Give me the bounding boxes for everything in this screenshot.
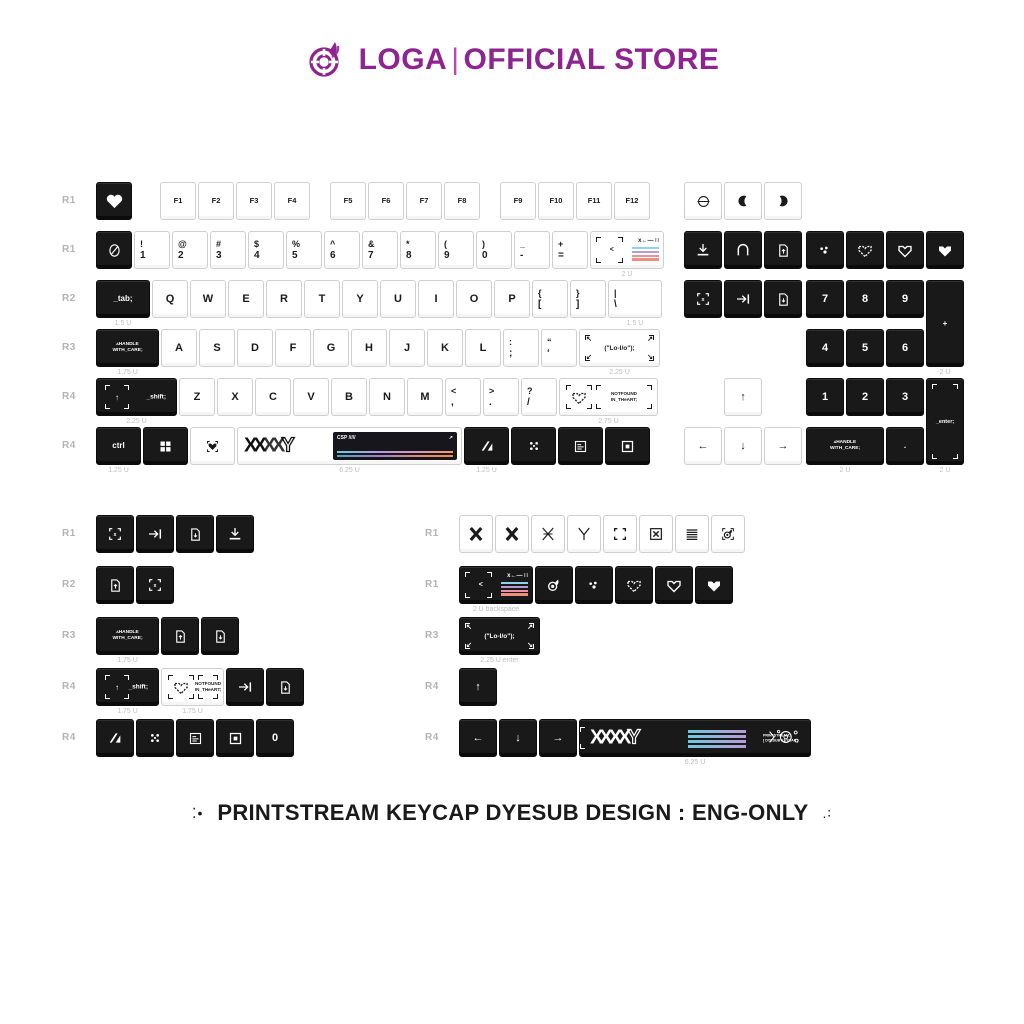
key-heart-outline-glyph[interactable] bbox=[655, 566, 693, 604]
key-legend: F4 bbox=[288, 197, 297, 205]
key-legend: 7 bbox=[822, 294, 828, 305]
key-f3[interactable]: F3 bbox=[236, 182, 272, 220]
key-spacebar-black[interactable]: XXXXYPRINTSTREAM;[ DYESUB KEYCAP ] bbox=[579, 719, 811, 757]
key-t[interactable]: T bbox=[304, 280, 340, 318]
key-[interactable]: ?/ bbox=[521, 378, 557, 416]
key-tab-arrow-glyph[interactable] bbox=[724, 280, 762, 318]
key-left-shift[interactable]: ↑_shift; bbox=[96, 378, 177, 416]
key-slash-glyph[interactable] bbox=[464, 427, 509, 465]
key-arrow-left[interactable]: ← bbox=[684, 427, 722, 465]
key-legend: 2 bbox=[862, 392, 868, 403]
key-legend: F8 bbox=[458, 197, 467, 205]
key-8[interactable]: *8 bbox=[400, 231, 436, 269]
key-size-label: 1.75 U bbox=[96, 708, 159, 715]
svg-text:x: x bbox=[702, 297, 705, 303]
key-numpad-zero[interactable]: ▵HANDLEWITH_CARE; bbox=[806, 427, 884, 465]
key-file-up-glyph[interactable] bbox=[161, 617, 199, 655]
key-size-label: 1.75 U bbox=[96, 657, 159, 664]
key-legend: + bbox=[943, 320, 948, 328]
key-crop-x-glyph[interactable]: x bbox=[684, 280, 722, 318]
key-legend: F9 bbox=[514, 197, 523, 205]
key-crop-x-glyph[interactable]: x bbox=[136, 566, 174, 604]
key-1[interactable]: !1 bbox=[134, 231, 170, 269]
key-p[interactable]: P bbox=[494, 280, 530, 318]
key-[interactable]: <, bbox=[445, 378, 481, 416]
key-x-bold-glyph[interactable] bbox=[459, 515, 493, 553]
key-heart-dashed-glyph[interactable] bbox=[846, 231, 884, 269]
key-legend: S bbox=[213, 343, 220, 354]
key-legend: E bbox=[242, 294, 249, 305]
key-slash-glyph[interactable] bbox=[96, 719, 134, 757]
key-s[interactable]: S bbox=[199, 329, 235, 367]
key-legend: 0 bbox=[272, 733, 278, 744]
svg-text:x: x bbox=[114, 532, 117, 538]
key-[interactable]: {[ bbox=[532, 280, 568, 318]
extra-keys-right-group: R1R1<x←— ∷2 U backspaceR3↖↗↙↘("Lo-I/o");… bbox=[425, 515, 985, 770]
key-file-down-glyph[interactable] bbox=[266, 668, 304, 706]
key-legend: _tab; bbox=[113, 295, 132, 303]
key-legend: 6 bbox=[902, 343, 908, 354]
key-[interactable]: “‘ bbox=[541, 329, 577, 367]
key-legend: L bbox=[480, 343, 487, 354]
footer-caption: ⁚• PRINTSTREAM KEYCAP DYESUB DESIGN : EN… bbox=[0, 800, 1024, 826]
extra-keys-left-group: R1xR2xR3▵HANDLEWITH_CARE;1.75 UR4↑_shift… bbox=[62, 515, 392, 770]
key-arrow-left[interactable]: ← bbox=[459, 719, 497, 757]
key-2[interactable]: @2 bbox=[172, 231, 208, 269]
key-size-label: 2 U bbox=[806, 467, 884, 474]
brand-name: LOGA bbox=[359, 43, 448, 76]
key-f6[interactable]: F6 bbox=[368, 182, 404, 220]
key-4[interactable]: 4 bbox=[806, 329, 844, 367]
key-f5[interactable]: F5 bbox=[330, 182, 366, 220]
key-w[interactable]: W bbox=[190, 280, 226, 318]
key-k[interactable]: K bbox=[427, 329, 463, 367]
key-legend: J bbox=[404, 343, 410, 354]
key-q[interactable]: Q bbox=[152, 280, 188, 318]
row-label-r1-1: R1 bbox=[62, 244, 76, 255]
key-legend: F12 bbox=[626, 197, 639, 205]
key-4[interactable]: $4 bbox=[248, 231, 284, 269]
key-7[interactable]: &7 bbox=[362, 231, 398, 269]
row-label-r1-1: R1 bbox=[425, 579, 439, 590]
svg-text:x: x bbox=[154, 583, 157, 589]
key-m[interactable]: M bbox=[407, 378, 443, 416]
key-5[interactable]: 5 bbox=[846, 329, 884, 367]
key-dots4-glyph[interactable] bbox=[511, 427, 556, 465]
key-3[interactable]: #3 bbox=[210, 231, 246, 269]
key-legend: B bbox=[345, 392, 353, 403]
key-f1[interactable]: F1 bbox=[160, 182, 196, 220]
key-e[interactable]: E bbox=[228, 280, 264, 318]
key-caps-lock[interactable]: ▵HANDLEWITH_CARE; bbox=[96, 617, 159, 655]
key-size-label: 2.25 U enter bbox=[459, 657, 540, 664]
key-ctrl[interactable]: ctrl bbox=[96, 427, 141, 465]
key-size-label: 1.5 U bbox=[608, 320, 662, 327]
key-spacebar[interactable]: XXXXYCSP /////↗ bbox=[237, 427, 462, 465]
key-legend: F11 bbox=[588, 197, 601, 205]
key-l[interactable]: L bbox=[465, 329, 501, 367]
key-arrow-right[interactable]: → bbox=[539, 719, 577, 757]
key-c[interactable]: C bbox=[255, 378, 291, 416]
key-crop-glyph[interactable] bbox=[603, 515, 637, 553]
key-f2[interactable]: F2 bbox=[198, 182, 234, 220]
key-arch-glyph[interactable] bbox=[724, 231, 762, 269]
key-right-shift[interactable]: NOTFOUNDIN_THeART; bbox=[559, 378, 658, 416]
key-heart-glyph[interactable] bbox=[96, 182, 132, 220]
key-file-down-glyph[interactable] bbox=[764, 280, 802, 318]
key-j[interactable]: J bbox=[389, 329, 425, 367]
key-r[interactable]: R bbox=[266, 280, 302, 318]
key-f9[interactable]: F9 bbox=[500, 182, 536, 220]
key-moon-glyph[interactable] bbox=[724, 182, 762, 220]
key-legend: 8 bbox=[862, 294, 868, 305]
key-legend: F6 bbox=[382, 197, 391, 205]
key-legend: D bbox=[251, 343, 259, 354]
brand-separator: | bbox=[447, 43, 463, 76]
key-[interactable]: }] bbox=[570, 280, 606, 318]
row-label-r1-0: R1 bbox=[62, 528, 76, 539]
key-n[interactable]: N bbox=[369, 378, 405, 416]
key-legend: W bbox=[203, 294, 213, 305]
key-boxed-x-glyph[interactable] bbox=[639, 515, 673, 553]
key-g[interactable]: G bbox=[313, 329, 349, 367]
key-6[interactable]: ^6 bbox=[324, 231, 360, 269]
key-legend: 5 bbox=[862, 343, 868, 354]
row-label-r1-0: R1 bbox=[62, 195, 76, 206]
key-[interactable]: _- bbox=[514, 231, 550, 269]
key-size-label: 1.5 U bbox=[96, 320, 150, 327]
key-f11[interactable]: F11 bbox=[576, 182, 612, 220]
key-numpad-enter[interactable]: _enter; bbox=[926, 378, 964, 465]
key-legend: F3 bbox=[250, 197, 259, 205]
key-legend: R bbox=[280, 294, 288, 305]
key-legend: Q bbox=[166, 294, 175, 305]
key-legend: A bbox=[175, 343, 183, 354]
key-download-glyph[interactable] bbox=[684, 231, 722, 269]
key-legend: M bbox=[420, 392, 429, 403]
key-legend: U bbox=[394, 294, 402, 305]
key-tab[interactable]: _tab; bbox=[96, 280, 150, 318]
key-[interactable]: :; bbox=[503, 329, 539, 367]
key-heart-outline-glyph[interactable] bbox=[886, 231, 924, 269]
key-f10[interactable]: F10 bbox=[538, 182, 574, 220]
row-label-r4-4: R4 bbox=[62, 391, 76, 402]
key-y[interactable]: Y bbox=[342, 280, 378, 318]
key-divided-circle-glyph[interactable] bbox=[684, 182, 722, 220]
key-a[interactable]: A bbox=[161, 329, 197, 367]
key-crop-x-glyph[interactable]: x bbox=[96, 515, 134, 553]
key-size-label: 2 U bbox=[926, 369, 964, 376]
store-header: LOGA|OFFICIAL STORE bbox=[0, 38, 1024, 82]
row-label-r4-4: R4 bbox=[62, 732, 76, 743]
key-6[interactable]: 6 bbox=[886, 329, 924, 367]
key-5[interactable]: %5 bbox=[286, 231, 322, 269]
row-label-r3-2: R3 bbox=[62, 630, 76, 641]
key-size-label: 6.25 U bbox=[237, 467, 462, 474]
key-[interactable]: >. bbox=[483, 378, 519, 416]
key-f7[interactable]: F7 bbox=[406, 182, 442, 220]
key-f4[interactable]: F4 bbox=[274, 182, 310, 220]
key-0[interactable]: 0 bbox=[256, 719, 294, 757]
key-backspace[interactable]: <x←— ∷ bbox=[590, 231, 664, 269]
key-heart-solid-glyph[interactable] bbox=[695, 566, 733, 604]
key-legend: C bbox=[269, 392, 277, 403]
key-o[interactable]: O bbox=[456, 280, 492, 318]
key-x-outline-glyph[interactable] bbox=[531, 515, 565, 553]
key-legend: P bbox=[508, 294, 515, 305]
key-legend: O bbox=[470, 294, 479, 305]
key-download-glyph[interactable] bbox=[216, 515, 254, 553]
key-z[interactable]: Z bbox=[179, 378, 215, 416]
key-x[interactable]: X bbox=[217, 378, 253, 416]
key-numpad-plus[interactable]: + bbox=[926, 280, 964, 367]
key-y-outline-glyph[interactable] bbox=[567, 515, 601, 553]
row-label-r4-3: R4 bbox=[425, 681, 439, 692]
key-d[interactable]: D bbox=[237, 329, 273, 367]
row-label-r4-5: R4 bbox=[62, 440, 76, 451]
key-size-label: 2 U bbox=[590, 271, 664, 278]
key-moon-flip-glyph[interactable] bbox=[764, 182, 802, 220]
key-legend: I bbox=[434, 294, 437, 305]
key-legend: Z bbox=[194, 392, 201, 403]
key-2[interactable]: 2 bbox=[846, 378, 884, 416]
key-h[interactable]: H bbox=[351, 329, 387, 367]
left-dots-decoration: ⁚• bbox=[192, 805, 203, 822]
key-arrow-down[interactable]: ↓ bbox=[499, 719, 537, 757]
key-backspace[interactable]: <x←— ∷ bbox=[459, 566, 533, 604]
key-enter[interactable]: ↖↗↙↘("Lo-I/o"); bbox=[459, 617, 540, 655]
key-3[interactable]: 3 bbox=[886, 378, 924, 416]
row-label-r2-1: R2 bbox=[62, 579, 76, 590]
key-menu-glyph[interactable] bbox=[558, 427, 603, 465]
key-u[interactable]: U bbox=[380, 280, 416, 318]
key-size-label: 1.25 U bbox=[464, 467, 509, 474]
key-file-up-glyph[interactable] bbox=[96, 566, 134, 604]
key-legend: 1 bbox=[822, 392, 828, 403]
key-[interactable]: += bbox=[552, 231, 588, 269]
key-x-bold-glyph[interactable] bbox=[495, 515, 529, 553]
right-dots-decoration: .∶ bbox=[822, 805, 832, 822]
key-menu-glyph[interactable] bbox=[176, 719, 214, 757]
key-b[interactable]: B bbox=[331, 378, 367, 416]
row-label-r3-3: R3 bbox=[62, 342, 76, 353]
key-legend: F bbox=[290, 343, 297, 354]
key-slashed-zero-glyph[interactable] bbox=[96, 231, 132, 269]
key-0[interactable]: )0 bbox=[476, 231, 512, 269]
key-legend: K bbox=[441, 343, 449, 354]
key-tab-arrow-glyph[interactable] bbox=[136, 515, 174, 553]
key-size-label: 1.75 U bbox=[161, 708, 224, 715]
main-keyboard-layout: R1F1F2F3F4F5F6F7F8F9F10F11F12R1!1@2#3$4%… bbox=[62, 182, 682, 476]
key-size-label: 2 U backspace bbox=[459, 606, 533, 613]
key-square-glyph[interactable] bbox=[216, 719, 254, 757]
key-file-down-glyph[interactable] bbox=[201, 617, 239, 655]
brand-lockup: LOGA|OFFICIAL STORE bbox=[359, 43, 720, 77]
key-legend: F1 bbox=[174, 197, 183, 205]
row-label-r3-2: R3 bbox=[425, 630, 439, 641]
key-left-shift[interactable]: ↑_shift; bbox=[96, 668, 159, 706]
key-legend: 4 bbox=[822, 343, 828, 354]
key-legend: ctrl bbox=[112, 442, 124, 450]
key-i[interactable]: I bbox=[418, 280, 454, 318]
key-legend: F2 bbox=[212, 197, 221, 205]
row-label-r1-0: R1 bbox=[425, 528, 439, 539]
key-square-glyph[interactable] bbox=[605, 427, 650, 465]
key-arrow-right[interactable]: → bbox=[764, 427, 802, 465]
key-9[interactable]: 9 bbox=[886, 280, 924, 318]
key-1[interactable]: 1 bbox=[806, 378, 844, 416]
key-legend: . bbox=[904, 442, 906, 450]
key-win-glyph[interactable] bbox=[143, 427, 188, 465]
key-legend: Y bbox=[356, 294, 363, 305]
key-v[interactable]: V bbox=[293, 378, 329, 416]
key-arrow-up[interactable]: ↑ bbox=[724, 378, 762, 416]
row-label-r4-3: R4 bbox=[62, 681, 76, 692]
row-label-r4-4: R4 bbox=[425, 732, 439, 743]
key-alt-heart-glyph[interactable] bbox=[190, 427, 235, 465]
key-tab-arrow-glyph[interactable] bbox=[226, 668, 264, 706]
key-7[interactable]: 7 bbox=[806, 280, 844, 318]
key-caps-lock[interactable]: ▵HANDLEWITH_CARE; bbox=[96, 329, 159, 367]
key-comet-box-glyph[interactable] bbox=[711, 515, 745, 553]
row-label-r2-2: R2 bbox=[62, 293, 76, 304]
key-lines-glyph[interactable] bbox=[675, 515, 709, 553]
key-comet-glyph[interactable] bbox=[535, 566, 573, 604]
key-heart-solid-glyph[interactable] bbox=[926, 231, 964, 269]
key-numpad-dot[interactable]: . bbox=[886, 427, 924, 465]
key-f[interactable]: F bbox=[275, 329, 311, 367]
key-legend: 9 bbox=[902, 294, 908, 305]
key-legend: N bbox=[383, 392, 391, 403]
key-size-label: 2.75 U bbox=[559, 418, 658, 425]
product-title: PRINTSTREAM KEYCAP DYESUB DESIGN : ENG-O… bbox=[217, 800, 808, 826]
key-right-shift[interactable]: NOTFOUNDIN_THeART; bbox=[161, 668, 224, 706]
key-size-label: 2.25 U bbox=[579, 369, 660, 376]
key-arrow-down[interactable]: ↓ bbox=[724, 427, 762, 465]
key-size-label: 2.25 U bbox=[96, 418, 177, 425]
key-[interactable]: |\ bbox=[608, 280, 662, 318]
key-size-label: 6.25 U bbox=[579, 759, 811, 766]
key-legend: V bbox=[307, 392, 314, 403]
loga-comet-logo-icon bbox=[305, 38, 349, 82]
key-legend: G bbox=[327, 343, 336, 354]
store-label: OFFICIAL STORE bbox=[464, 43, 720, 76]
key-dots3-glyph[interactable] bbox=[575, 566, 613, 604]
key-size-label: 2 U bbox=[926, 467, 964, 474]
key-size-label: 1.75 U bbox=[96, 369, 159, 376]
key-legend: H bbox=[365, 343, 373, 354]
key-legend: X bbox=[231, 392, 238, 403]
key-size-label: 1.25 U bbox=[96, 467, 141, 474]
key-file-down-glyph[interactable] bbox=[176, 515, 214, 553]
key-legend: 3 bbox=[902, 392, 908, 403]
key-dots4-glyph[interactable] bbox=[136, 719, 174, 757]
key-9[interactable]: (9 bbox=[438, 231, 474, 269]
key-legend: F10 bbox=[550, 197, 563, 205]
key-arrow-up[interactable]: ↑ bbox=[459, 668, 497, 706]
key-f8[interactable]: F8 bbox=[444, 182, 480, 220]
key-dots3-glyph[interactable] bbox=[806, 231, 844, 269]
key-legend: T bbox=[319, 294, 326, 305]
key-heart-dashed-glyph[interactable] bbox=[615, 566, 653, 604]
key-f12[interactable]: F12 bbox=[614, 182, 650, 220]
key-legend: F5 bbox=[344, 197, 353, 205]
key-file-up-glyph[interactable] bbox=[764, 231, 802, 269]
key-enter[interactable]: ↖↗↙↘("Lo-I/o"); bbox=[579, 329, 660, 367]
key-legend: F7 bbox=[420, 197, 429, 205]
key-8[interactable]: 8 bbox=[846, 280, 884, 318]
